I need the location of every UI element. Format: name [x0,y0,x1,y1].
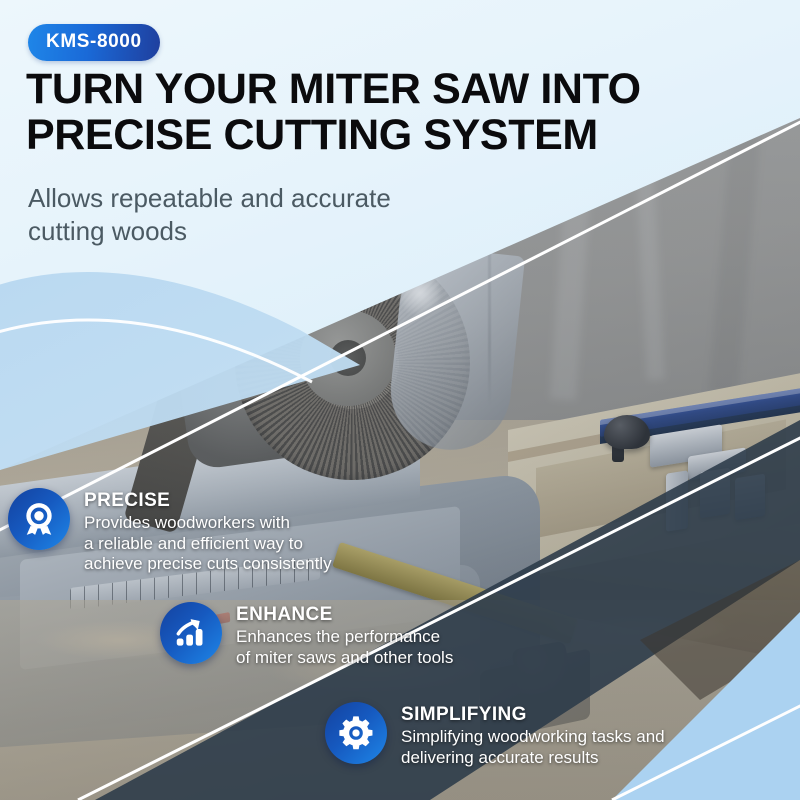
page-title: TURN YOUR MITER SAW INTO PRECISE CUTTING… [26,66,746,158]
feature-desc-line-3: achieve precise cuts consistently [84,554,332,575]
feature-desc-line-1: Provides woodworkers with [84,513,332,534]
product-model-badge: KMS-8000 [28,24,160,61]
feature-desc-line-1: Enhances the performance [236,627,453,648]
feature-item-precise: PRECISE Provides woodworkers with a reli… [8,488,332,575]
feature-desc-line-2: delivering accurate results [401,748,665,769]
feature-text: PRECISE Provides woodworkers with a reli… [84,488,332,575]
feature-item-enhance: ENHANCE Enhances the performance of mite… [160,602,453,668]
feature-description: Enhances the performance of miter saws a… [236,627,453,668]
feature-item-simplifying: SIMPLIFYING Simplifying woodworking task… [325,702,665,768]
subhead-line-1: Allows repeatable and accurate [28,182,498,215]
award-rosette-icon [8,488,70,550]
feature-title: PRECISE [84,490,332,512]
feature-title: SIMPLIFYING [401,704,665,726]
subhead-line-2: cutting woods [28,215,498,248]
hairline-upper [0,112,800,540]
growth-chart-icon [160,602,222,664]
feature-description: Simplifying woodworking tasks and delive… [401,727,665,768]
feature-text: SIMPLIFYING Simplifying woodworking task… [401,702,665,768]
feature-title: ENHANCE [236,604,453,626]
page-subtitle: Allows repeatable and accurate cutting w… [28,182,498,247]
product-banner: KMS-8000 TURN YOUR MITER SAW INTO PRECIS… [0,0,800,800]
feature-desc-line-2: a reliable and efficient way to [84,534,332,555]
feature-text: ENHANCE Enhances the performance of mite… [236,602,453,668]
feature-desc-line-2: of miter saws and other tools [236,648,453,669]
headline-line-2: PRECISE CUTTING SYSTEM [26,112,746,158]
feature-desc-line-1: Simplifying woodworking tasks and [401,727,665,748]
headline-line-1: TURN YOUR MITER SAW INTO [26,66,746,112]
feature-description: Provides woodworkers with a reliable and… [84,513,332,575]
gear-icon [325,702,387,764]
